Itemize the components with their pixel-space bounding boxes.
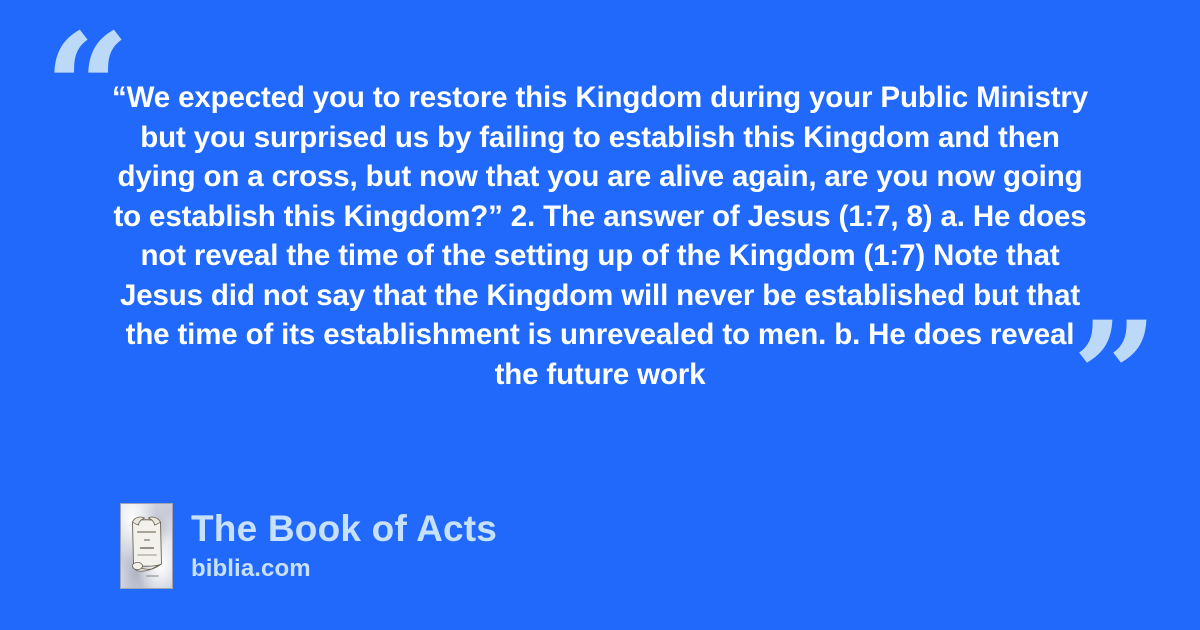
book-title: The Book of Acts <box>191 508 497 550</box>
quote-block: “We expected you to restore this Kingdom… <box>100 78 1100 394</box>
book-cover-thumbnail <box>120 503 173 589</box>
close-quote-mark-icon: ” <box>1072 302 1158 452</box>
scroll-illustration-icon <box>124 510 169 582</box>
site-name: biblia.com <box>191 554 497 584</box>
quote-text: “We expected you to restore this Kingdom… <box>100 78 1100 394</box>
quote-card: “ “We expected you to restore this Kingd… <box>0 0 1200 630</box>
footer-text-group: The Book of Acts biblia.com <box>191 508 497 584</box>
footer-attribution: The Book of Acts biblia.com <box>120 503 497 589</box>
